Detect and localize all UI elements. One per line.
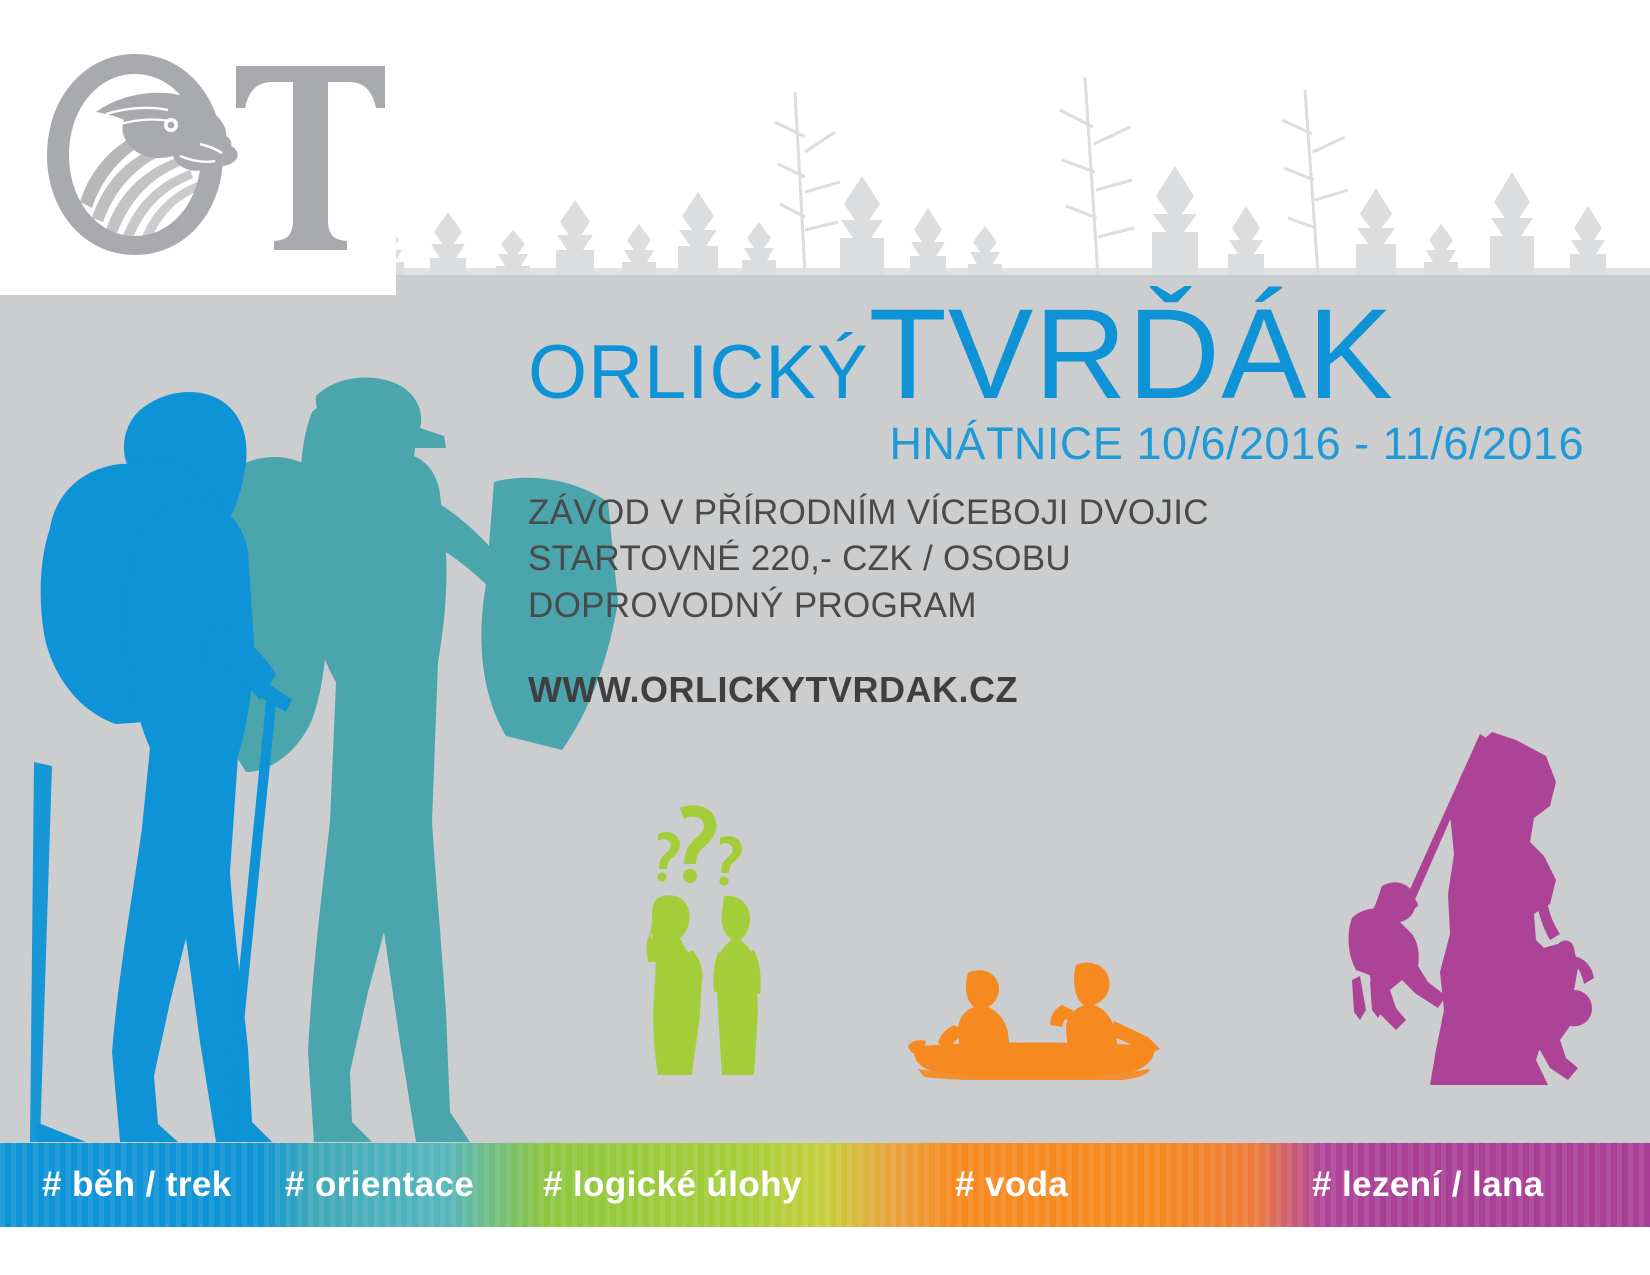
climbers-rock-magenta-icon (1278, 690, 1650, 1085)
title-word-tvrdak: TVRĎÁK (869, 283, 1394, 426)
canoe-pair-orange-icon (898, 955, 1168, 1080)
discipline-voda[interactable]: # voda (955, 1143, 1068, 1227)
eagle-head-icon (40, 52, 385, 257)
logo-plate (0, 0, 396, 292)
field-notch (0, 275, 396, 295)
footer-whitespace (0, 1227, 1650, 1275)
info-line-program: DOPROVODNÝ PROGRAM (528, 583, 1588, 630)
title-word-orlicky: ORLICKÝ (528, 330, 869, 415)
discipline-lezeni-lana[interactable]: # lezení / lana (1312, 1143, 1544, 1227)
poster-title: ORLICKÝTVRĎÁK (528, 296, 1588, 414)
info-line-entry-fee: STARTOVNÉ 220,- CZK / OSOBU (528, 536, 1588, 583)
discipline-bar: # běh / trek # orientace # logické úlohy… (0, 1143, 1650, 1227)
puzzled-couple-green-icon (608, 800, 768, 1075)
info-line-race-type: ZÁVOD V PŘÍRODNÍM VÍCEBOJI DVOJIC (528, 490, 1588, 537)
headline-block: ORLICKÝTVRĎÁK HNÁTNICE 10/6/2016 - 11/6/… (528, 296, 1588, 711)
poster-canvas: ORLICKÝTVRĎÁK HNÁTNICE 10/6/2016 - 11/6/… (0, 0, 1650, 1275)
website-url[interactable]: WWW.ORLICKYTVRDAK.CZ (528, 669, 1588, 711)
event-info: ZÁVOD V PŘÍRODNÍM VÍCEBOJI DVOJIC STARTO… (528, 490, 1588, 630)
discipline-beh-trek[interactable]: # běh / trek (42, 1143, 232, 1227)
event-date-location: HNÁTNICE 10/6/2016 - 11/6/2016 (528, 418, 1588, 470)
discipline-logicke-ulohy[interactable]: # logické úlohy (543, 1143, 802, 1227)
discipline-orientace[interactable]: # orientace (285, 1143, 474, 1227)
